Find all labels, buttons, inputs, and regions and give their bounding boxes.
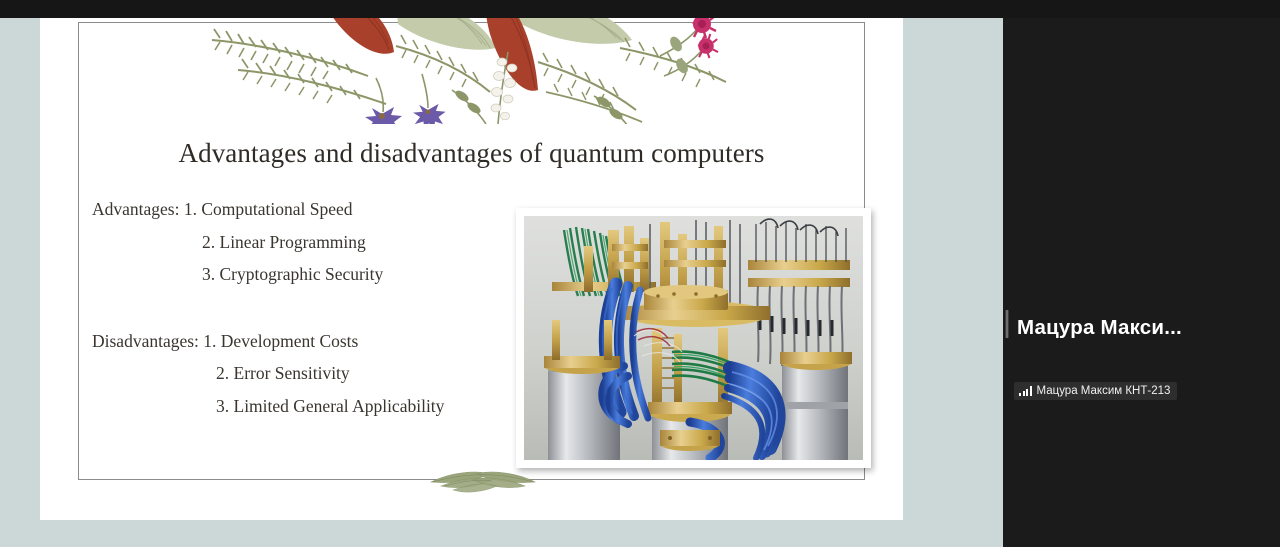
active-speaker-name: Мацура Макси... bbox=[1017, 316, 1280, 340]
signal-bars-icon bbox=[1019, 386, 1032, 396]
advantages-label: Advantages: bbox=[92, 199, 179, 219]
quantum-computer-photo bbox=[516, 208, 871, 468]
list-spacer bbox=[92, 291, 492, 325]
speaking-indicator-bar bbox=[1005, 310, 1009, 338]
participant-name-badge: Мацура Максим КНТ-213 bbox=[1014, 382, 1177, 400]
disadvantages-item-2: 2. Error Sensitivity bbox=[92, 357, 492, 390]
shared-screen-stage[interactable]: Advantages and disadvantages of quantum … bbox=[0, 18, 1003, 547]
botanical-header-ornament bbox=[190, 18, 730, 124]
advantages-item-3: 3. Cryptographic Security bbox=[92, 258, 492, 291]
advantages-item-2: 2. Linear Programming bbox=[92, 226, 492, 259]
disadvantages-label: Disadvantages: bbox=[92, 331, 199, 351]
slide-title: Advantages and disadvantages of quantum … bbox=[78, 138, 865, 169]
fern-leaf-ornament bbox=[423, 466, 543, 500]
slide-body-content: Advantages: 1. Computational Speed 2. Li… bbox=[92, 193, 492, 422]
presentation-slide[interactable]: Advantages and disadvantages of quantum … bbox=[40, 18, 903, 520]
disadvantages-item-1: 1. Development Costs bbox=[203, 331, 358, 351]
disadvantages-block: Disadvantages: 1. Development Costs 2. E… bbox=[92, 325, 492, 423]
participant-rail[interactable]: Мацура Макси... Мацура Максим КНТ-213 bbox=[1003, 18, 1280, 547]
video-conference-window: Advantages and disadvantages of quantum … bbox=[0, 0, 1280, 547]
advantages-block: Advantages: 1. Computational Speed 2. Li… bbox=[92, 193, 492, 291]
photo-image bbox=[524, 216, 863, 460]
disadvantages-item-3: 3. Limited General Applicability bbox=[92, 390, 492, 423]
advantages-first-line: Advantages: 1. Computational Speed bbox=[92, 193, 492, 226]
participant-name-label: Мацура Максим КНТ-213 bbox=[1037, 385, 1171, 397]
top-bar bbox=[0, 0, 1280, 18]
advantages-item-1: 1. Computational Speed bbox=[184, 199, 353, 219]
disadvantages-first-line: Disadvantages: 1. Development Costs bbox=[92, 325, 492, 358]
